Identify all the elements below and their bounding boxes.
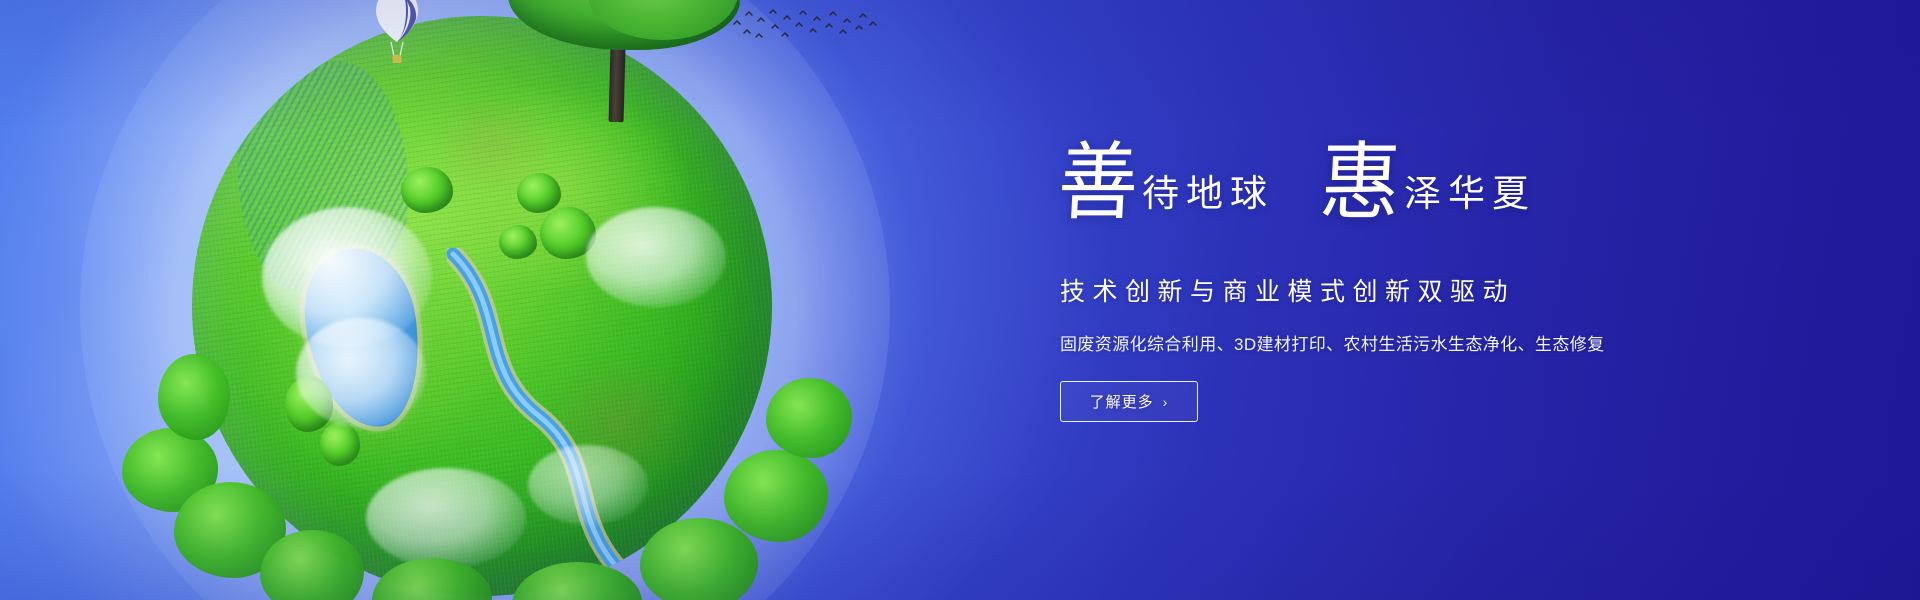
headline-rest-chars: 待地球 <box>1142 176 1274 222</box>
hero-banner: 善 待地球 惠 泽华夏 技术创新与商业模式创新双驱动 固废资源化综合利用、3D建… <box>0 0 1920 600</box>
headline-phrase-1: 善 待地球 <box>1058 148 1274 222</box>
headline-phrase-2: 惠 泽华夏 <box>1320 148 1536 222</box>
headline-rest-chars: 泽华夏 <box>1404 176 1536 222</box>
page-title: 善 待地球 惠 泽华夏 <box>1058 148 1536 222</box>
learn-more-label: 了解更多 <box>1090 391 1154 412</box>
learn-more-button[interactable]: 了解更多 › <box>1060 381 1198 422</box>
hero-copy: 善 待地球 惠 泽华夏 技术创新与商业模式创新双驱动 固废资源化综合利用、3D建… <box>1058 0 1778 600</box>
headline-lead-char: 善 <box>1056 146 1140 224</box>
chevron-right-icon: › <box>1163 394 1169 410</box>
headline-lead-char: 惠 <box>1318 146 1402 224</box>
hero-description: 固废资源化综合利用、3D建材打印、农村生活污水生态净化、生态修复 <box>1060 330 1605 355</box>
hero-subtitle: 技术创新与商业模式创新双驱动 <box>1060 272 1515 308</box>
